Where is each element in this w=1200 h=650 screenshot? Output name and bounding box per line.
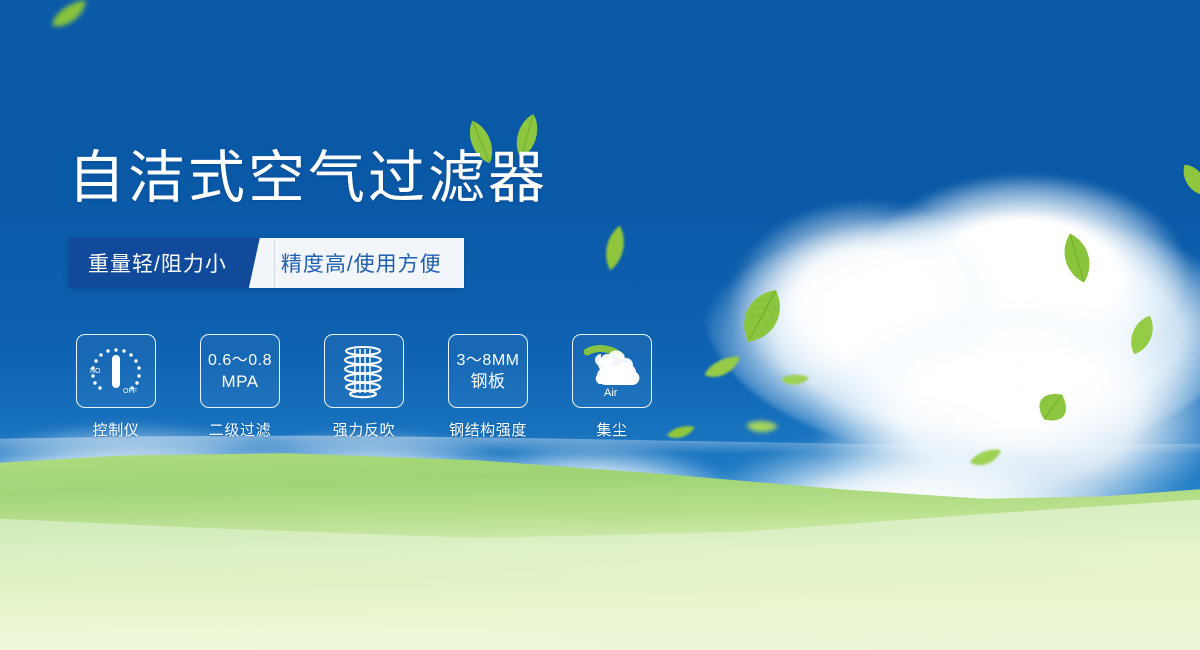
feature-label: 强力反吹	[333, 419, 395, 440]
feature-icon-box: 3～8MM 钢板	[448, 334, 528, 408]
filter-cartridge-icon	[337, 343, 391, 399]
feature-item-dust-collection[interactable]: Air 集尘	[564, 334, 660, 440]
feature-item-control-gauge[interactable]: NO OFF 控制仪	[68, 334, 164, 440]
feature-label: 钢结构强度	[449, 419, 527, 440]
feature-icon-box: 0.6～0.8 MPA	[200, 334, 280, 408]
subtitle-right-text: 精度高/使用方便	[275, 238, 464, 288]
subtitle-slant-divider	[249, 238, 275, 288]
gauge-dial-icon: NO OFF	[85, 342, 147, 400]
air-cloud-icon: Air	[581, 344, 643, 398]
gauge-no-label: NO	[90, 368, 101, 375]
feature-item-pressure[interactable]: 0.6～0.8 MPA 二级过滤	[192, 334, 288, 440]
banner-content: 自洁式空气过滤器 重量轻/阻力小 精度高/使用方便	[0, 0, 1200, 650]
feature-icon-box	[324, 334, 404, 408]
pressure-range-text: 0.6～0.8	[208, 351, 272, 371]
gauge-off-label: OFF	[123, 388, 137, 395]
feature-icon-box: Air	[572, 334, 652, 408]
product-banner: 自洁式空气过滤器 重量轻/阻力小 精度高/使用方便	[0, 0, 1200, 650]
feature-item-steel-plate[interactable]: 3～8MM 钢板 钢结构强度	[440, 334, 536, 440]
feature-label: 控制仪	[93, 419, 140, 440]
steel-plate-text: 钢板	[471, 371, 506, 392]
feature-icon-box: NO OFF	[76, 334, 156, 408]
steel-thickness-text: 3～8MM	[457, 351, 520, 371]
air-label: Air	[604, 387, 618, 398]
feature-label: 集尘	[596, 419, 627, 440]
feature-label: 二级过滤	[209, 419, 271, 440]
subtitle-bar: 重量轻/阻力小 精度高/使用方便	[68, 238, 464, 288]
feature-list: NO OFF 控制仪 0.6～0.8 MPA 二级过滤	[68, 334, 660, 440]
pressure-unit-text: MPA	[221, 371, 258, 392]
page-title: 自洁式空气过滤器	[68, 142, 548, 214]
subtitle-left-text: 重量轻/阻力小	[68, 238, 249, 288]
feature-item-backblow[interactable]: 强力反吹	[316, 334, 412, 440]
